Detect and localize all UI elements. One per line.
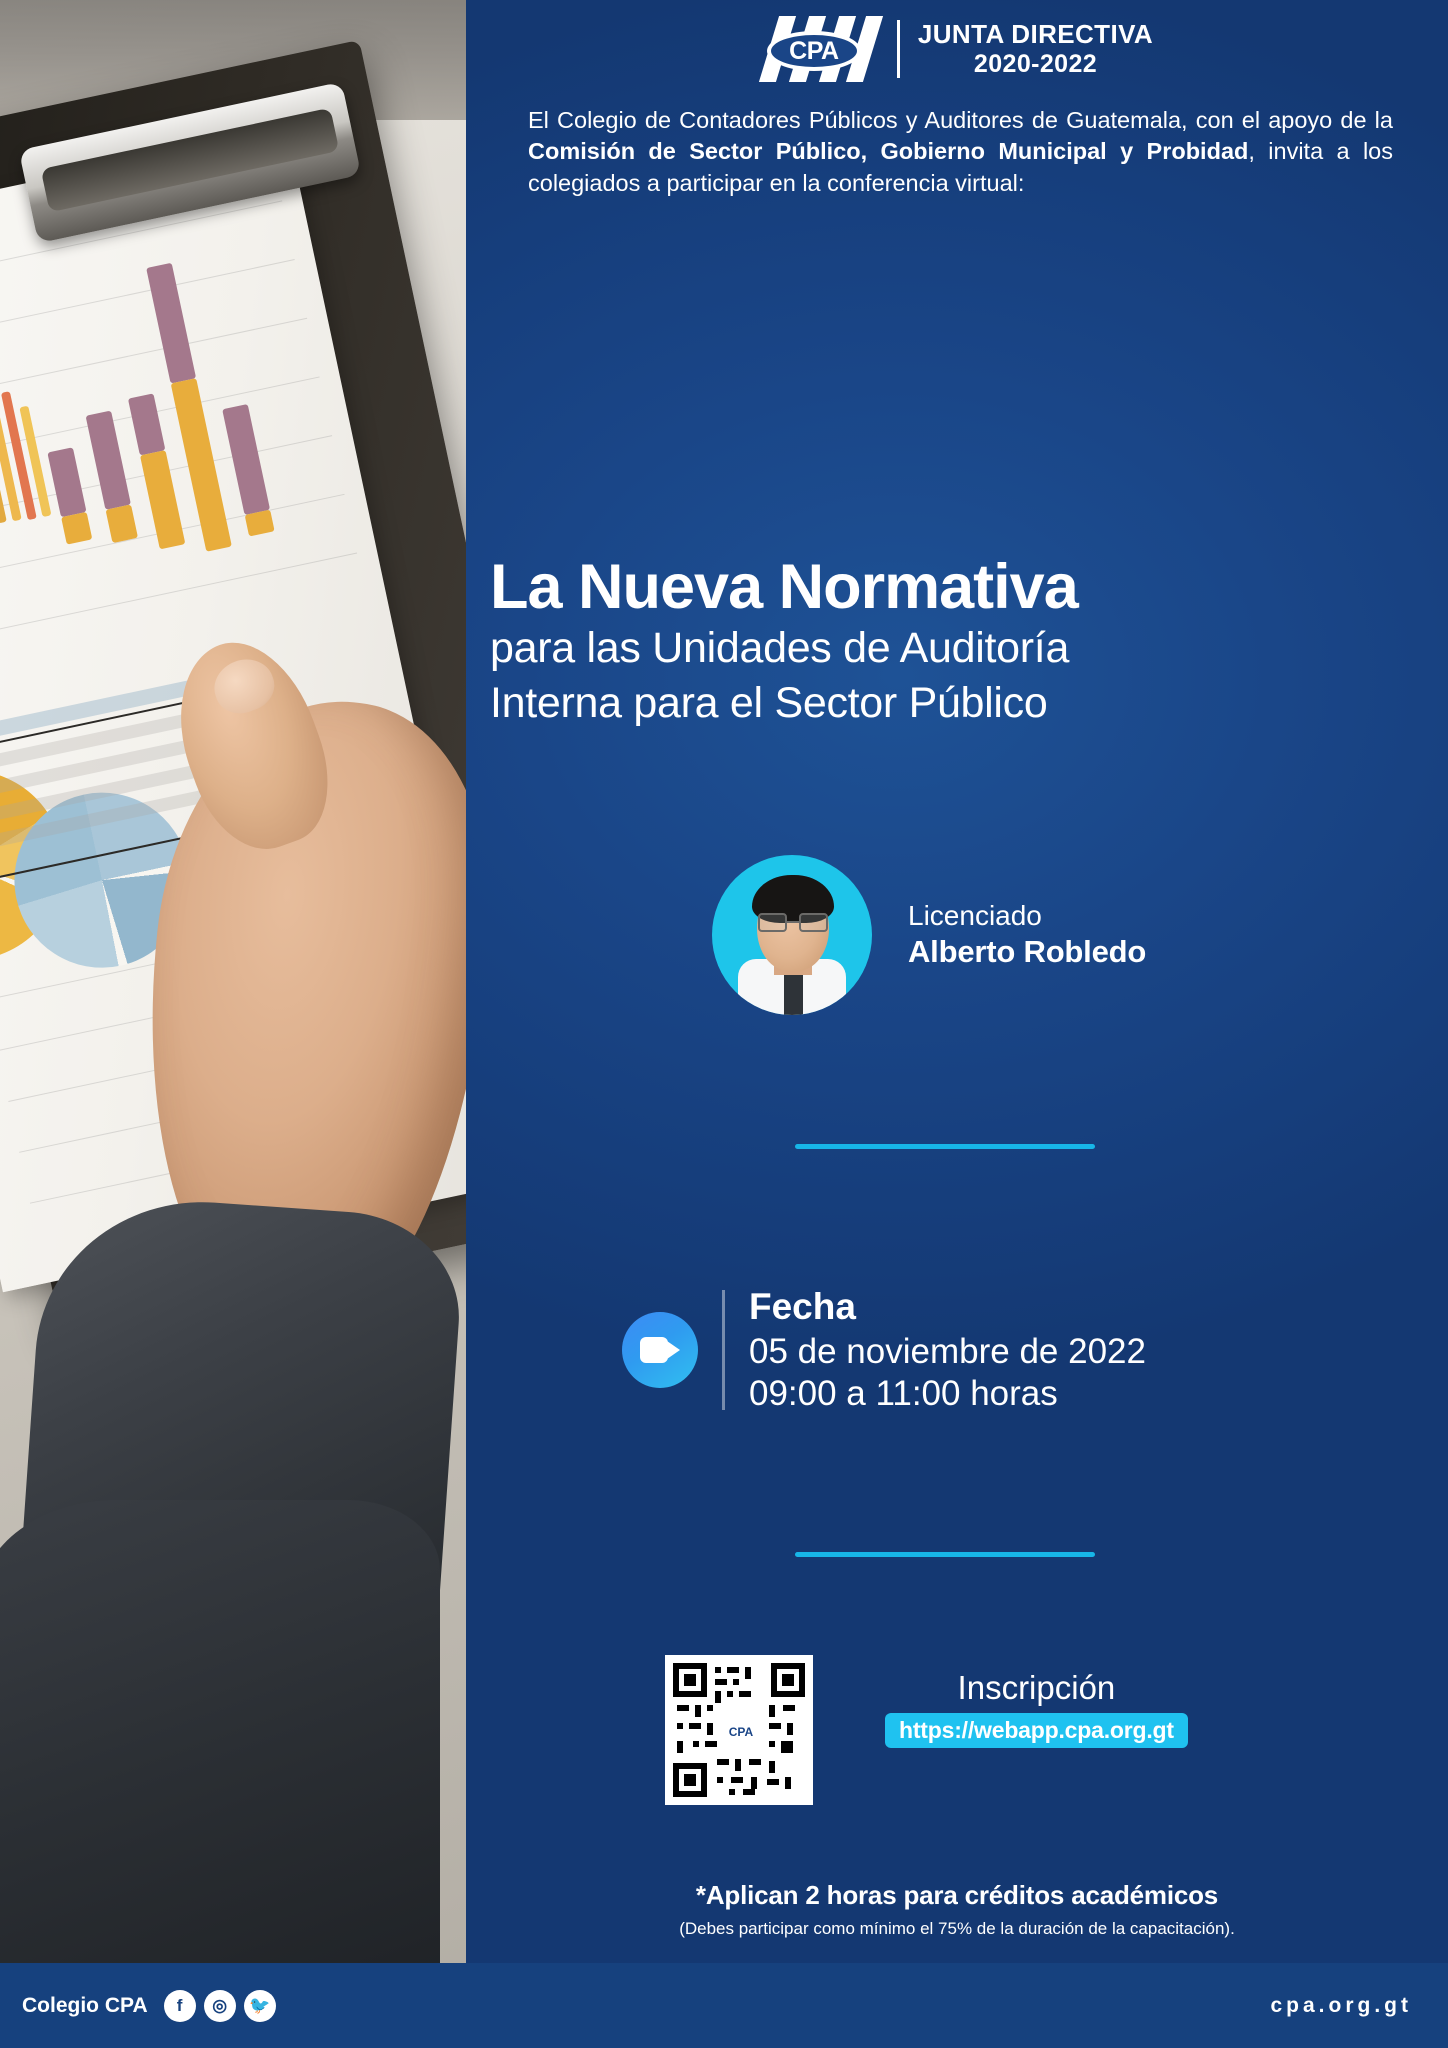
header-divider [897,20,900,78]
speaker-block: Licenciado Alberto Robledo [712,855,1146,1015]
social-links: f ◎ 🐦 [164,1990,276,2022]
glasses-icon [758,913,828,932]
hero-photo [0,0,466,1963]
board-title: JUNTA DIRECTIVA [918,20,1153,49]
zoom-video-icon [622,1312,698,1388]
date-vertical-rule [722,1290,725,1410]
subtitle-line-2: Interna para el Sector Público [490,678,1410,728]
cpa-logo-icon: CPA [761,16,879,82]
intro-part-2: con el apoyo de la [1188,107,1393,133]
footer-website[interactable]: cpa.org.gt [1270,1994,1448,2018]
speaker-name: Alberto Robledo [908,933,1146,971]
board-years: 2020-2022 [918,50,1153,78]
intro-commission-name: Comisión de Sector Público, Gobierno Mun… [528,138,1248,164]
subtitle-line-1: para las Unidades de Auditoría [490,623,1410,673]
divider-upper [795,1144,1095,1149]
cpa-logo-oval: CPA [767,31,861,71]
qr-canvas: CPA [673,1663,805,1797]
date-value: 05 de noviembre de 2022 [749,1331,1146,1373]
instagram-icon[interactable]: ◎ [204,1990,236,2022]
qr-logo-text: CPA [729,1725,753,1739]
board-period: JUNTA DIRECTIVA 2020-2022 [918,20,1153,77]
facebook-icon[interactable]: f [164,1990,196,2022]
date-text: Fecha 05 de noviembre de 2022 09:00 a 11… [749,1285,1146,1415]
intro-part-1: El Colegio de Contadores Públicos y Audi… [528,107,1188,133]
credits-note: *Aplican 2 horas para créditos académico… [466,1880,1448,1939]
intro-paragraph: El Colegio de Contadores Públicos y Audi… [528,105,1393,199]
speaker-text: Licenciado Alberto Robledo [908,899,1146,971]
date-label: Fecha [749,1285,1146,1329]
twitter-icon[interactable]: 🐦 [244,1990,276,2022]
credits-subnote: (Debes participar como mínimo el 75% de … [466,1919,1448,1939]
footer-bar: Colegio CPA f ◎ 🐦 cpa.org.gt [0,1963,1448,2048]
credits-headline: *Aplican 2 horas para créditos académico… [466,1880,1448,1911]
registration-text: Inscripción https://webapp.cpa.org.gt [885,1655,1188,1748]
conference-title-block: La Nueva Normativa para las Unidades de … [490,555,1410,728]
date-block: Fecha 05 de noviembre de 2022 09:00 a 11… [622,1285,1146,1415]
registration-url[interactable]: https://webapp.cpa.org.gt [885,1713,1188,1748]
cpa-logo-text: CPA [789,37,838,66]
time-value: 09:00 a 11:00 horas [749,1373,1146,1415]
registration-label: Inscripción [885,1669,1188,1707]
avatar [712,855,872,1015]
divider-lower [795,1552,1095,1557]
qr-code[interactable]: CPA [665,1655,813,1805]
footer-brand: Colegio CPA [22,1994,148,2018]
qr-center-logo: CPA [722,1713,760,1751]
poster-root: CPA JUNTA DIRECTIVA 2020-2022 El Colegio… [0,0,1448,2048]
header: CPA JUNTA DIRECTIVA 2020-2022 [466,16,1448,82]
sleeve-lower [0,1500,440,1963]
footer-left: Colegio CPA f ◎ 🐦 [0,1990,276,2022]
speaker-role: Licenciado [908,899,1146,933]
page-title: La Nueva Normativa [490,555,1410,619]
registration-block: CPA Inscripción https://webapp.cpa.org.g… [665,1655,1188,1805]
